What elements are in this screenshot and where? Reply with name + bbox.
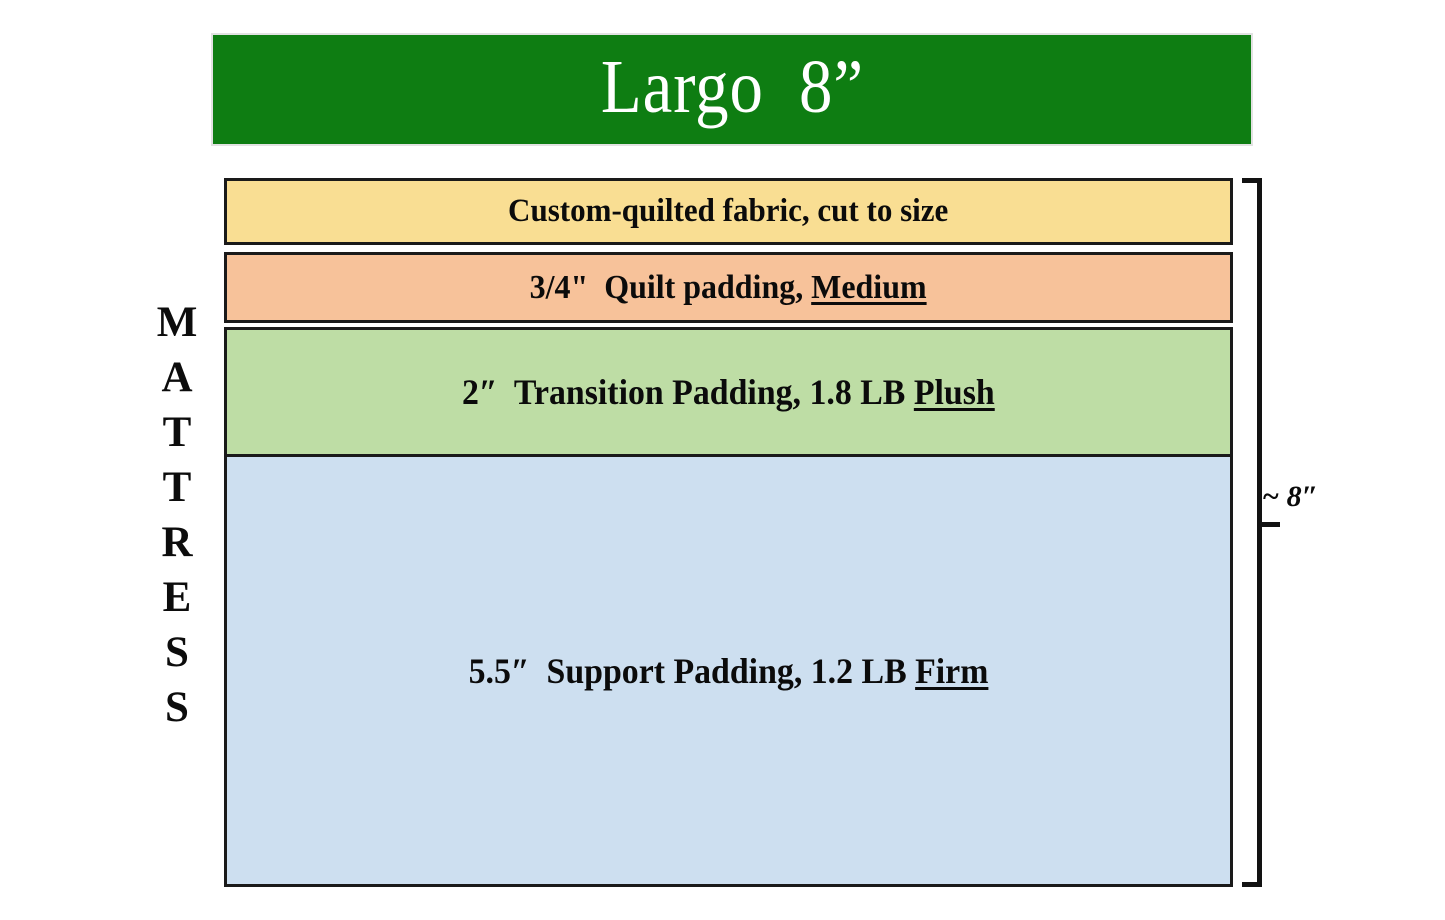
mattress-letter: M: [157, 295, 198, 350]
mattress-layer-stack: Custom-quilted fabric, cut to size 3/4" …: [224, 178, 1233, 887]
bracket-foot-bottom: [1242, 882, 1262, 887]
mattress-letter: A: [161, 350, 192, 405]
page-title: Largo 8”: [601, 49, 864, 131]
title-banner: Largo 8”: [211, 33, 1253, 146]
mattress-letter: S: [165, 625, 189, 680]
mattress-letter: T: [163, 460, 192, 515]
layer-label: 5.5″ Support Padding, 1.2 LB Firm: [469, 650, 989, 692]
layer-custom-quilted-fabric: Custom-quilted fabric, cut to size: [224, 178, 1233, 245]
mattress-letter: T: [163, 405, 192, 460]
mattress-letter: S: [165, 680, 189, 735]
total-height-label: ~ 8″: [1262, 480, 1318, 514]
layer-label: 3/4" Quilt padding, Medium: [530, 269, 927, 307]
dimension-bracket-icon: [1240, 178, 1262, 887]
bracket-mid-tick: [1260, 522, 1280, 527]
mattress-vertical-label: M A T T R E S S: [145, 295, 209, 735]
layer-support-padding: 5.5″ Support Padding, 1.2 LB Firm: [224, 454, 1233, 887]
layer-transition-padding: 2″ Transition Padding, 1.8 LB Plush: [224, 327, 1233, 457]
layer-label: 2″ Transition Padding, 1.8 LB Plush: [462, 371, 995, 413]
bracket-stem: [1257, 178, 1262, 887]
mattress-letter: R: [161, 515, 192, 570]
layer-label: Custom-quilted fabric, cut to size: [508, 193, 948, 230]
layer-quilt-padding: 3/4" Quilt padding, Medium: [224, 252, 1233, 323]
mattress-layer-diagram: Largo 8” M A T T R E S S Custom-quilted …: [0, 0, 1445, 920]
mattress-letter: E: [163, 570, 192, 625]
